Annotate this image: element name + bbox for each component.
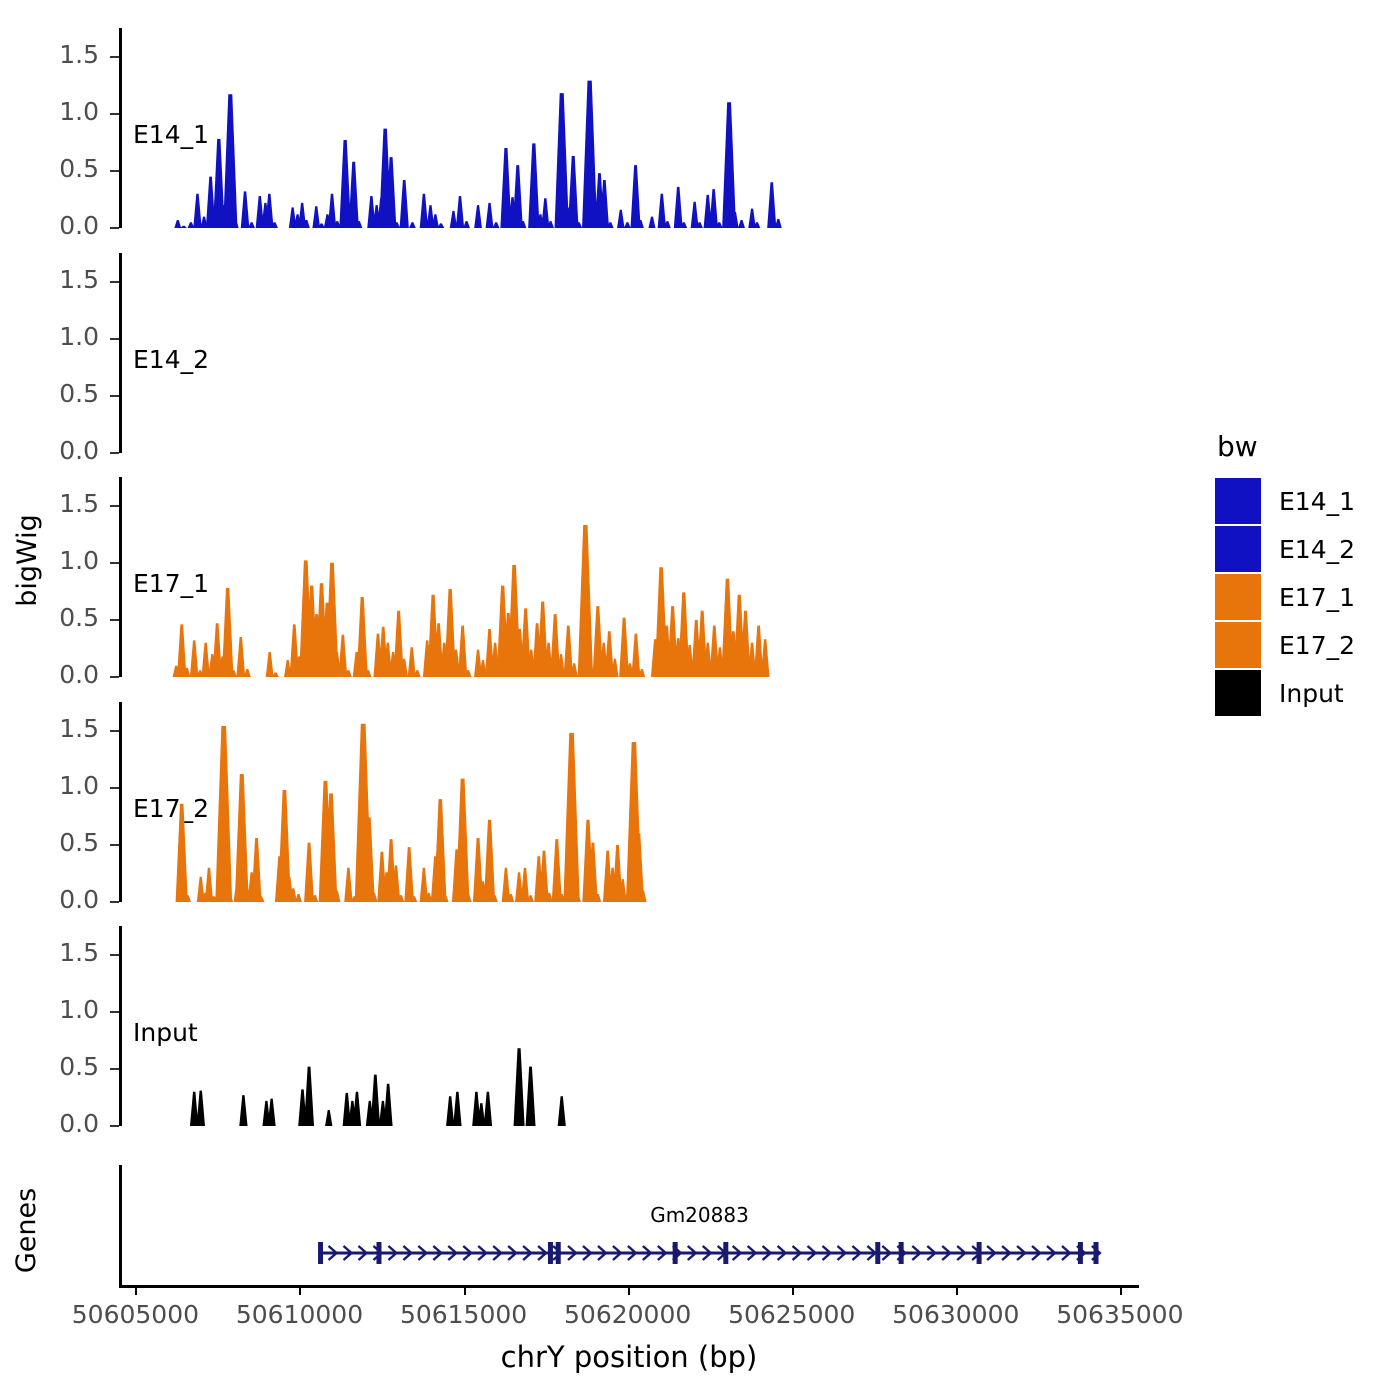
legend: bw E14_1E14_2E17_1E17_2Input	[1215, 430, 1390, 717]
y-tick-label: 1.0	[19, 995, 99, 1024]
legend-swatch	[1215, 670, 1261, 716]
x-axis	[119, 1285, 1139, 1293]
legend-label: Input	[1279, 679, 1344, 708]
y-tick-label: 0.0	[19, 436, 99, 465]
y-tick-label: 1.0	[19, 771, 99, 800]
y-tick	[110, 170, 119, 172]
gene-model[interactable]	[122, 1165, 1136, 1285]
y-tick	[110, 562, 119, 564]
x-tick	[792, 1285, 794, 1295]
y-tick	[110, 844, 119, 846]
y-tick-label: 1.5	[19, 489, 99, 518]
genes-panel: Gm20883	[119, 1165, 1136, 1285]
y-tick-label: 0.0	[19, 660, 99, 689]
y-tick	[110, 619, 119, 621]
x-tick	[628, 1285, 630, 1295]
y-tick	[110, 113, 119, 115]
genes-axis-title-text: Genes	[12, 1187, 43, 1272]
y-tick	[110, 395, 119, 397]
y-tick-label: 1.5	[19, 265, 99, 294]
genes-axis-title: Genes	[6, 1160, 48, 1300]
legend-item-e17_1[interactable]: E17_1	[1215, 573, 1390, 621]
y-tick-label: 0.5	[19, 603, 99, 632]
x-tick	[464, 1285, 466, 1295]
legend-label: E17_1	[1279, 583, 1355, 612]
y-tick-label: 0.5	[19, 154, 99, 183]
y-tick-label: 0.0	[19, 211, 99, 240]
legend-item-e14_1[interactable]: E14_1	[1215, 477, 1390, 525]
genome-browser-figure: bigWig Genes 1.51.00.50.0E14_11.51.00.50…	[0, 0, 1400, 1400]
y-tick	[110, 1011, 119, 1013]
x-tick-label: 50615000	[400, 1300, 527, 1329]
y-tick	[110, 676, 119, 678]
y-tick-label: 0.0	[19, 1109, 99, 1138]
legend-item-input[interactable]: Input	[1215, 669, 1390, 717]
y-tick-label: 1.0	[19, 97, 99, 126]
legend-label: E14_1	[1279, 487, 1355, 516]
x-tick	[299, 1285, 301, 1295]
y-tick-label: 1.0	[19, 546, 99, 575]
y-tick	[110, 1125, 119, 1127]
y-tick	[110, 227, 119, 229]
x-tick-label: 50620000	[564, 1300, 691, 1329]
y-tick	[110, 954, 119, 956]
y-tick-label: 1.0	[19, 322, 99, 351]
x-tick-label: 50630000	[892, 1300, 1019, 1329]
x-axis-title: chrY position (bp)	[119, 1340, 1139, 1374]
y-tick	[110, 56, 119, 58]
track-panel-e14_2: 1.51.00.50.0E14_2	[119, 253, 1136, 453]
track-panel-input: 1.51.00.50.0Input	[119, 926, 1136, 1126]
x-tick-label: 50625000	[728, 1300, 855, 1329]
y-tick-label: 0.5	[19, 828, 99, 857]
y-tick-label: 1.5	[19, 714, 99, 743]
x-tick	[1120, 1285, 1122, 1295]
track-area-e14_2	[122, 253, 1136, 453]
legend-swatch	[1215, 478, 1261, 524]
x-tick-label: 50610000	[236, 1300, 363, 1329]
y-tick	[110, 452, 119, 454]
track-panel-e14_1: 1.51.00.50.0E14_1	[119, 28, 1136, 228]
x-tick-label: 50635000	[1056, 1300, 1183, 1329]
y-tick-label: 0.5	[19, 379, 99, 408]
legend-swatch	[1215, 574, 1261, 620]
y-tick	[110, 787, 119, 789]
track-panel-e17_2: 1.51.00.50.0E17_2	[119, 702, 1136, 902]
y-tick-label: 1.5	[19, 938, 99, 967]
legend-item-e17_2[interactable]: E17_2	[1215, 621, 1390, 669]
y-tick	[110, 901, 119, 903]
legend-swatch	[1215, 526, 1261, 572]
x-tick-label: 50605000	[72, 1300, 199, 1329]
y-tick-label: 0.0	[19, 885, 99, 914]
y-tick-label: 1.5	[19, 40, 99, 69]
track-area-e17_2	[122, 702, 1136, 902]
track-area-e14_1	[122, 28, 1136, 228]
legend-swatch	[1215, 622, 1261, 668]
x-tick	[956, 1285, 958, 1295]
legend-title: bw	[1217, 430, 1390, 463]
y-tick-label: 0.5	[19, 1052, 99, 1081]
y-tick	[110, 338, 119, 340]
legend-item-e14_2[interactable]: E14_2	[1215, 525, 1390, 573]
track-panel-e17_1: 1.51.00.50.0E17_1	[119, 477, 1136, 677]
y-tick	[110, 505, 119, 507]
y-tick	[110, 281, 119, 283]
legend-label: E17_2	[1279, 631, 1355, 660]
track-area-input	[122, 926, 1136, 1126]
track-area-e17_1	[122, 477, 1136, 677]
y-tick	[110, 730, 119, 732]
y-tick	[110, 1068, 119, 1070]
x-tick	[135, 1285, 137, 1295]
legend-label: E14_2	[1279, 535, 1355, 564]
legend-items: E14_1E14_2E17_1E17_2Input	[1215, 477, 1390, 717]
